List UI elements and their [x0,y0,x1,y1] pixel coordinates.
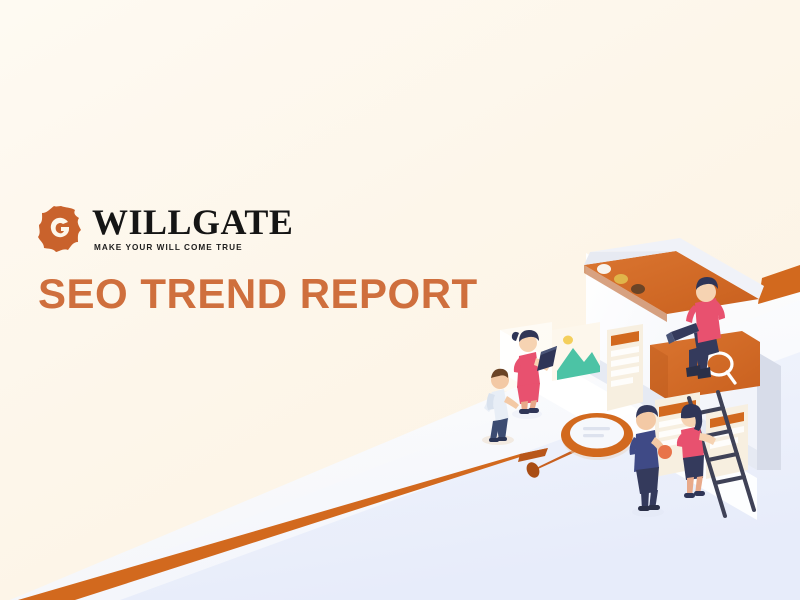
page-title: SEO TREND REPORT [38,270,478,318]
report-cover: WILLGATE MAKE YOUR WILL COME TRUE SEO TR… [0,0,800,600]
brand-text: WILLGATE MAKE YOUR WILL COME TRUE [92,203,293,252]
brand-tagline: MAKE YOUR WILL COME TRUE [94,243,293,252]
willgate-shield-g-icon [38,205,84,253]
brand-lockup: WILLGATE MAKE YOUR WILL COME TRUE [38,203,293,253]
brand-wordmark: WILLGATE [92,203,293,241]
